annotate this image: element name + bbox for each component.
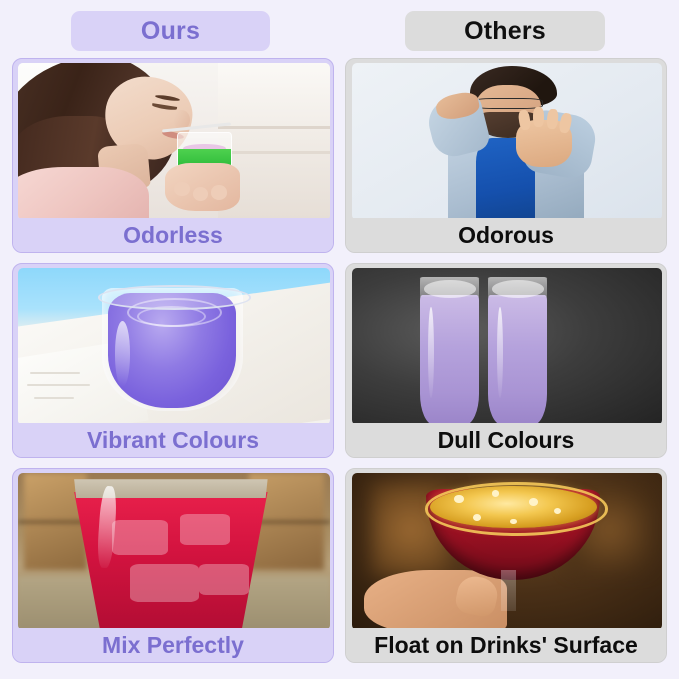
comparison-grid: Odorless Odorous <box>12 58 667 670</box>
header-row: Ours Others <box>0 11 679 51</box>
card-others-odorous: Odorous <box>345 58 667 253</box>
photo-man-pinching-nose <box>352 63 662 220</box>
card-label-dull-colours: Dull Colours <box>346 423 666 457</box>
card-label-vibrant-colours: Vibrant Colours <box>13 423 333 457</box>
card-others-dull-colours: Dull Colours <box>345 263 667 458</box>
comparison-board: Ours Others <box>0 0 679 679</box>
badge-ours-label: Ours <box>141 17 200 46</box>
card-label-odorous: Odorous <box>346 218 666 252</box>
card-ours-vibrant-colours: Vibrant Colours <box>12 263 334 458</box>
card-ours-mix-perfectly: Mix Perfectly <box>12 468 334 663</box>
badge-others-label: Others <box>464 17 546 46</box>
card-ours-odorless: Odorless <box>12 58 334 253</box>
badge-others: Others <box>405 11 605 51</box>
card-label-float-on-surface: Float on Drinks' Surface <box>346 628 666 662</box>
card-others-float-on-surface: Float on Drinks' Surface <box>345 468 667 663</box>
photo-gold-glitter-coupe <box>352 473 662 630</box>
photo-red-mixed-drink <box>18 473 330 630</box>
photo-woman-smelling-drink <box>18 63 330 220</box>
photo-vibrant-purple-drink <box>18 268 330 425</box>
badge-ours: Ours <box>71 11 270 51</box>
photo-dull-purple-flutes <box>352 268 662 425</box>
card-label-odorless: Odorless <box>13 218 333 252</box>
card-label-mix-perfectly: Mix Perfectly <box>13 628 333 662</box>
